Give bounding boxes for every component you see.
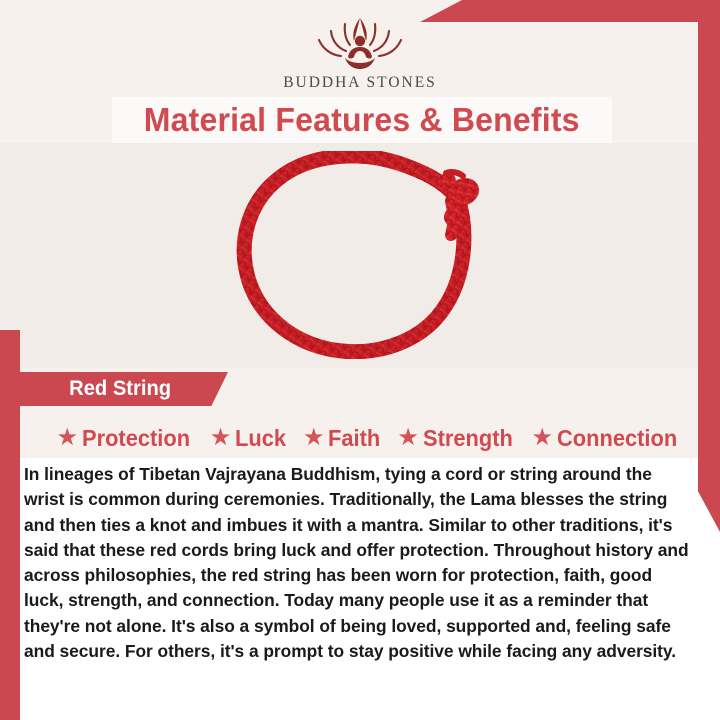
star-icon: ★ <box>56 426 78 450</box>
red-string-bracelet-image <box>232 151 494 359</box>
brand-logo: BUDDHA STONES <box>0 14 720 96</box>
decor-frame-right-bar <box>698 22 720 532</box>
benefit-item: ★ Connection <box>531 425 683 452</box>
benefit-label: Connection <box>557 425 677 452</box>
decor-frame-top-bar <box>420 0 720 22</box>
lotus-meditation-figure-icon <box>304 14 416 72</box>
benefits-list: ★ Protection ★ Luck ★ Faith ★ Strength ★… <box>20 419 720 457</box>
benefit-item: ★ Protection <box>56 425 195 452</box>
benefit-item: ★ Strength <box>397 425 517 452</box>
star-icon: ★ <box>210 426 232 450</box>
star-icon: ★ <box>531 426 553 450</box>
page-title-band: Material Features & Benefits <box>112 97 612 143</box>
benefit-label: Strength <box>423 425 513 452</box>
page-title: Material Features & Benefits <box>144 101 580 139</box>
benefit-label: Faith <box>328 425 380 452</box>
description-block: In lineages of Tibetan Vajrayana Buddhis… <box>20 458 720 720</box>
material-name: Red String <box>23 377 171 401</box>
benefit-item: ★ Faith <box>303 425 383 452</box>
description-text: In lineages of Tibetan Vajrayana Buddhis… <box>24 462 694 664</box>
benefit-label: Luck <box>235 425 286 452</box>
benefit-item: ★ Luck <box>210 425 289 452</box>
decor-frame-left-bar <box>0 330 20 720</box>
material-name-banner: Red String <box>20 372 228 406</box>
star-icon: ★ <box>303 426 325 450</box>
brand-name: BUDDHA STONES <box>283 74 437 92</box>
star-icon: ★ <box>397 426 419 450</box>
product-image-area <box>0 143 720 368</box>
benefit-label: Protection <box>82 425 190 452</box>
material-features-poster: BUDDHA STONES Material Features & Benefi… <box>0 0 720 720</box>
